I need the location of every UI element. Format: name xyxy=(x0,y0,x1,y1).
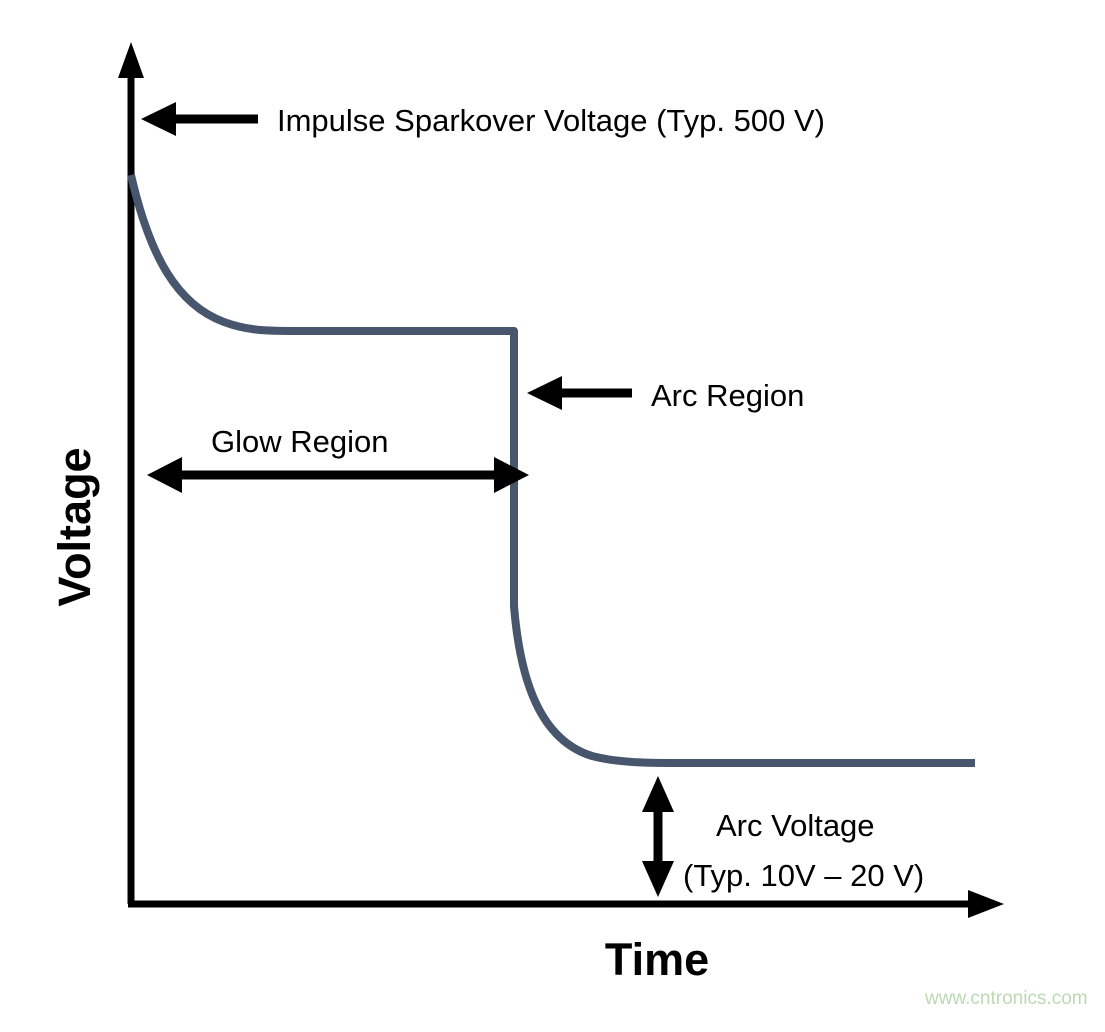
arc-voltage-arrow-head-bottom-icon xyxy=(642,861,674,897)
arc-voltage-arrow-head-top-icon xyxy=(642,776,674,812)
impulse-arrow-head-icon xyxy=(141,102,176,136)
gdt-voltage-diagram: Impulse Sparkover Voltage (Typ. 500 V) A… xyxy=(0,0,1105,1032)
x-axis-arrowhead-icon xyxy=(968,890,1004,918)
y-axis-title: Voltage xyxy=(49,447,100,606)
arc-voltage-annotation: Arc Voltage (Typ. 10V – 20 V) xyxy=(642,776,924,897)
y-axis-arrowhead-icon xyxy=(118,42,144,78)
voltage-curve-group xyxy=(131,175,975,763)
arc-region-label: Arc Region xyxy=(651,378,804,413)
glow-region-label: Glow Region xyxy=(211,424,388,459)
arc-region-arrow-head-icon xyxy=(527,376,562,410)
arc-voltage-label-line2: (Typ. 10V – 20 V) xyxy=(683,858,924,893)
watermark-label: www.cntronics.com xyxy=(924,988,1088,1009)
impulse-sparkover-label: Impulse Sparkover Voltage (Typ. 500 V) xyxy=(277,103,825,138)
arc-region-annotation: Arc Region xyxy=(527,376,804,413)
diagram-canvas: Impulse Sparkover Voltage (Typ. 500 V) A… xyxy=(0,0,1105,1032)
x-axis-title: Time xyxy=(605,934,709,985)
glow-region-arrow-head-left-icon xyxy=(147,457,182,493)
impulse-sparkover-annotation: Impulse Sparkover Voltage (Typ. 500 V) xyxy=(141,102,825,138)
axis-group xyxy=(118,42,1004,918)
gdt-response-curve xyxy=(131,175,975,763)
arc-voltage-label-line1: Arc Voltage xyxy=(716,808,875,843)
glow-region-annotation: Glow Region xyxy=(147,424,529,493)
